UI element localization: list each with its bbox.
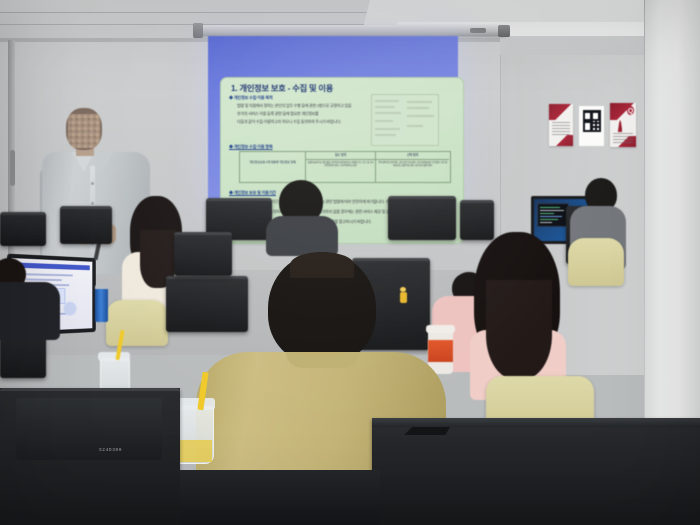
qr-code-icon <box>583 110 601 132</box>
roller-latch[interactable] <box>470 28 486 33</box>
classroom-photo: 1. 개인정보 보호 - 수집 및 이용 ◆ 개인정보 수집·이용 목적 법령 … <box>0 0 700 525</box>
slide-section3-heading: ◆ 개인정보 보유 및 이용기간 <box>229 190 276 196</box>
wall-poster-right: Q <box>610 103 636 147</box>
cup-lid <box>98 352 130 361</box>
presenter-head <box>66 108 102 150</box>
poster-figure-icon <box>618 120 623 132</box>
monitor-model-label: S24D300 <box>99 448 122 453</box>
wall-poster-left <box>549 104 573 146</box>
poster-logo: Q <box>627 106 634 116</box>
roller-bracket-right <box>498 25 510 37</box>
mini-figure-head <box>400 287 406 292</box>
slide-title: 1. 개인정보 보호 - 수집 및 이용 <box>231 82 333 94</box>
pillar <box>645 0 700 430</box>
document-titlebar <box>15 262 90 270</box>
monitor <box>174 232 232 276</box>
energy-drink-can[interactable] <box>95 288 108 322</box>
monitor <box>60 206 112 244</box>
slide-table-cell: 성명(한글/한자), 생년월일, 연락처(휴대전화번호), 이메일 주소, 주소… <box>306 160 375 169</box>
slide-section1-line: 부가의 서비스 이용 등록 관련 등에 필요한 개인정보를 <box>237 111 319 117</box>
slide-table-header: 필수 항목 <box>306 152 375 160</box>
chair[interactable] <box>568 238 624 286</box>
monitor <box>460 200 494 240</box>
presenter-face-pixelated <box>68 114 100 148</box>
roller-bracket-left <box>193 23 203 38</box>
monitor-back-panel <box>16 398 162 460</box>
slide-section1-line: 다음과 같이 수집·이용하고자 하오니 수집 동의하여 주시기 바랍니다. <box>237 119 341 125</box>
slide-section2-heading: ◆ 개인정보 수집·이용 항목 <box>229 144 273 150</box>
document-logo <box>63 302 76 316</box>
monitor <box>166 276 248 332</box>
slide-table-header: 선택 항목 <box>376 152 449 160</box>
projected-slide: 1. 개인정보 보호 - 수집 및 이용 ◆ 개인정보 수집·이용 목적 법령 … <box>208 36 458 211</box>
can-top <box>95 285 108 289</box>
slide-table-row-label: 개인정보보호 3개 대분류 개인정보 항목 <box>240 160 305 165</box>
slide-section1-heading: ◆ 개인정보 수집·이용 목적 <box>229 95 273 101</box>
slide-table-cell: 학력·경력 및 자격사항, 교육·훈련 이수내역, 기타 동의에 따른 부가정보… <box>376 160 449 169</box>
monitor <box>388 196 456 240</box>
mini-figure-toy <box>400 292 407 303</box>
coffee-cup-sleeve <box>428 340 453 362</box>
slide-table: 개인정보보호 3개 대분류 개인정보 항목 필수 항목 성명(한글/한자), 생… <box>239 151 451 183</box>
code-editor-window <box>537 203 569 227</box>
wall-poster-qr <box>579 106 604 146</box>
chair[interactable] <box>106 300 168 346</box>
whiteboard-knob <box>10 150 15 186</box>
coffee-cup-lid <box>426 325 455 333</box>
monitor <box>0 212 46 246</box>
desk <box>180 470 380 525</box>
slide-section1-line: 법령 및 지침에서 정하는 본인의 업무 수행 등에 관한 2항으로 규정하고 … <box>237 103 351 109</box>
monitor-top-edge <box>372 418 700 427</box>
projector-screen-roller[interactable] <box>196 25 506 36</box>
slide-document-image <box>371 94 439 146</box>
